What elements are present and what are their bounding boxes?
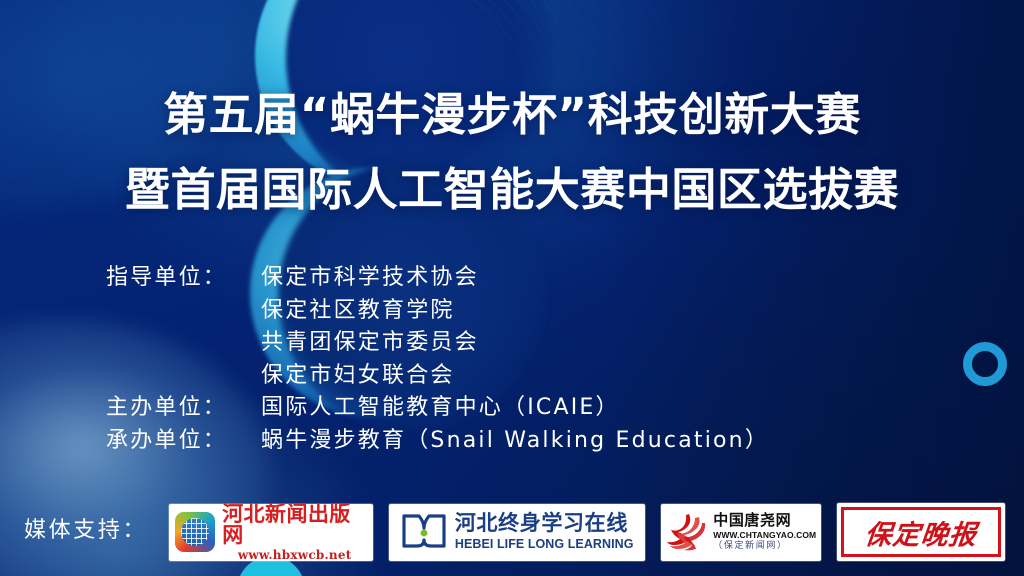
title-line-1: 第五届“蜗牛漫步杯”科技创新大赛 bbox=[0, 88, 1024, 143]
globe-icon bbox=[175, 512, 215, 552]
guidance-row-4: 指导单位： 保定市妇女联合会 bbox=[0, 360, 1024, 393]
red-seal-border: 保定晚报 bbox=[841, 507, 1001, 557]
media-logo-hebei-life-long-learning[interactable]: 河北终身学习在线 HEBEI LIFE LONG LEARNING bbox=[389, 504, 645, 561]
logo-text-group: 河北终身学习在线 HEBEI LIFE LONG LEARNING bbox=[455, 513, 634, 551]
media-logo-china-tangyao-net[interactable]: 中国唐尧网 WWW.CHTANGYAO.COM （保定新闻网） bbox=[661, 504, 821, 561]
logo-url: www.hbxwcb.net bbox=[238, 549, 352, 561]
guidance-label: 指导单位： bbox=[106, 262, 261, 295]
poster-canvas: 第五届“蜗牛漫步杯”科技创新大赛 暨首届国际人工智能大赛中国区选拔赛 指导单位：… bbox=[0, 0, 1024, 576]
host-value: 国际人工智能教育中心（ICAIE） bbox=[261, 392, 918, 425]
guidance-row-1: 指导单位： 保定市科学技术协会 bbox=[0, 262, 1024, 295]
organizer-row: 承办单位： 蜗牛漫步教育（Snail Walking Education） bbox=[0, 425, 1024, 458]
logo-text-group: 中国唐尧网 WWW.CHTANGYAO.COM （保定新闻网） bbox=[713, 513, 816, 552]
host-row: 主办单位： 国际人工智能教育中心（ICAIE） bbox=[0, 392, 1024, 425]
guidance-unit-1: 保定市科学技术协会 bbox=[261, 262, 918, 295]
logo-subtitle: （保定新闻网） bbox=[713, 542, 787, 551]
host-label: 主办单位： bbox=[106, 392, 261, 425]
logo-name-cn: 中国唐尧网 bbox=[713, 513, 791, 528]
logo-name-cn: 河北新闻出版网 bbox=[222, 503, 367, 545]
media-logo-baoding-evening-news[interactable]: 保定晚报 bbox=[837, 503, 1005, 561]
media-support-label: 媒体支持： bbox=[24, 512, 147, 544]
media-support-bar: 媒体支持： 河北新闻出版网 www.hbxwcb.net 河北终身学习在线 bbox=[0, 498, 1024, 576]
poster-title: 第五届“蜗牛漫步杯”科技创新大赛 暨首届国际人工智能大赛中国区选拔赛 bbox=[0, 88, 1024, 218]
logo-name-en: HEBEI LIFE LONG LEARNING bbox=[455, 538, 634, 551]
globe-icon-grid bbox=[181, 518, 209, 546]
organizer-label: 承办单位： bbox=[106, 425, 261, 458]
media-logo-list: 河北新闻出版网 www.hbxwcb.net 河北终身学习在线 HEBEI LI… bbox=[169, 503, 1005, 561]
open-book-icon bbox=[401, 513, 447, 551]
media-logo-hebei-news-publishing-net[interactable]: 河北新闻出版网 www.hbxwcb.net bbox=[169, 504, 373, 561]
guidance-unit-3: 共青团保定市委员会 bbox=[261, 327, 918, 360]
guidance-row-3: 指导单位： 共青团保定市委员会 bbox=[0, 327, 1024, 360]
guidance-unit-2: 保定社区教育学院 bbox=[261, 295, 918, 328]
flame-ribbon-icon bbox=[666, 512, 708, 552]
logo-text-group: 河北新闻出版网 www.hbxwcb.net bbox=[222, 503, 367, 561]
logo-url: WWW.CHTANGYAO.COM bbox=[713, 531, 816, 540]
guidance-row-2: 指导单位： 保定社区教育学院 bbox=[0, 295, 1024, 328]
organizer-value: 蜗牛漫步教育（Snail Walking Education） bbox=[261, 425, 918, 458]
logo-name-cn: 保定晚报 bbox=[863, 513, 979, 552]
logo-name-cn: 河北终身学习在线 bbox=[455, 513, 634, 534]
guidance-unit-4: 保定市妇女联合会 bbox=[261, 360, 918, 393]
title-line-2: 暨首届国际人工智能大赛中国区选拔赛 bbox=[0, 163, 1024, 218]
organization-info: 指导单位： 保定市科学技术协会 指导单位： 保定社区教育学院 指导单位： 共青团… bbox=[0, 262, 1024, 457]
